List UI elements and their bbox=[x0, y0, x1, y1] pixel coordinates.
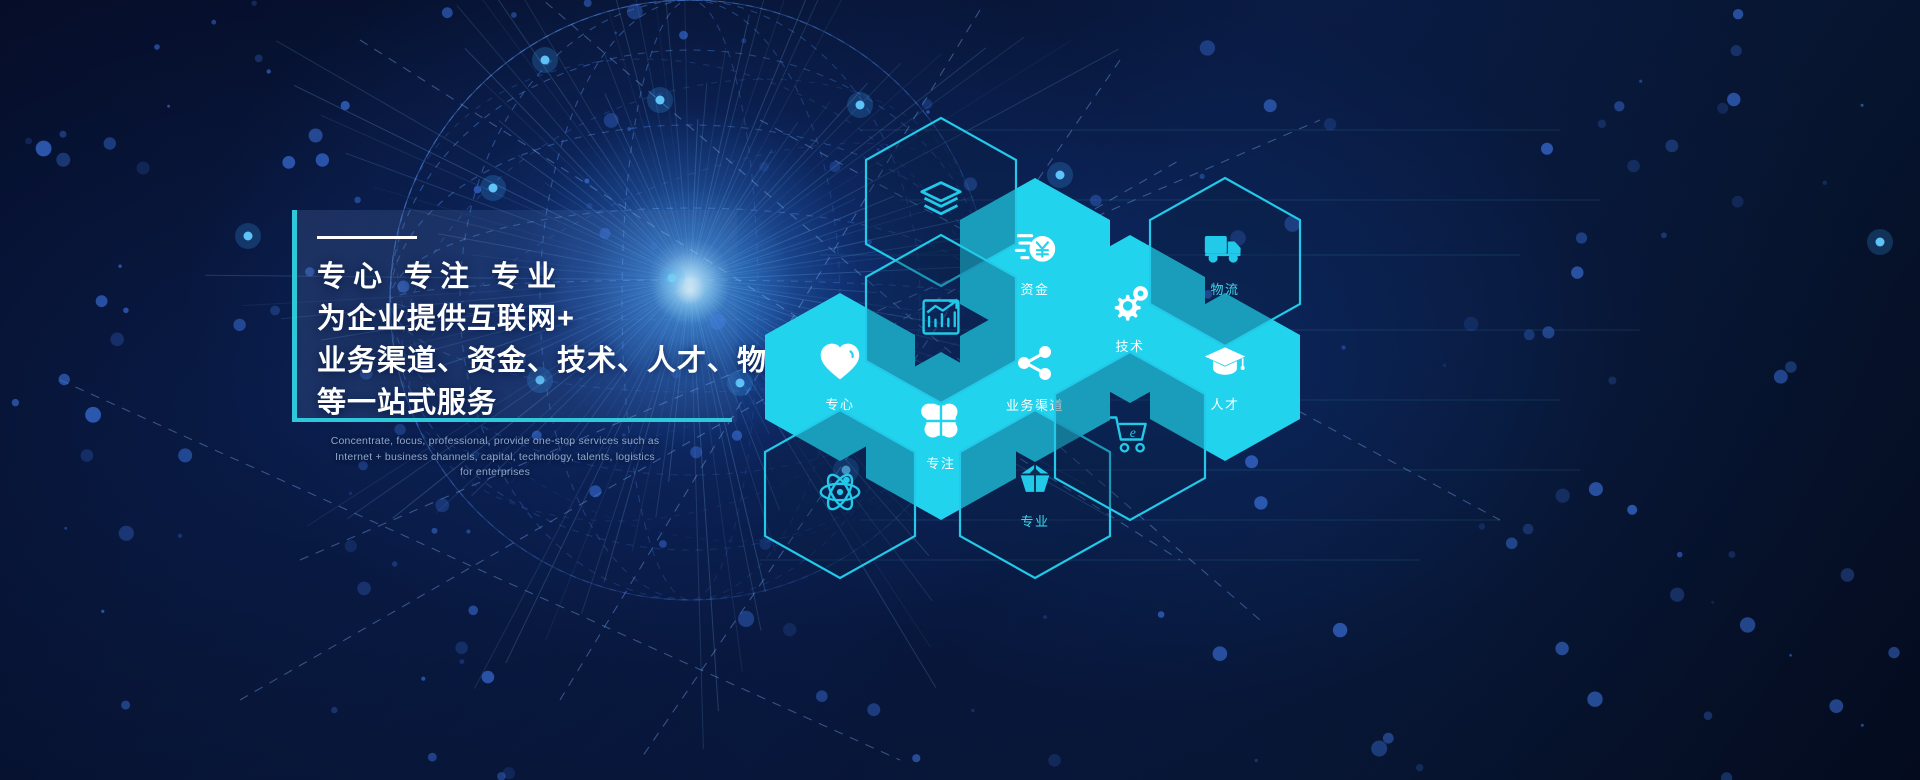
headline-panel: 专心 专注 专业 为企业提供互联网+ 业务渠道、资金、技术、人才、物流 等一站式… bbox=[292, 210, 737, 422]
hexagon-shape bbox=[1055, 352, 1205, 520]
headline-line-2: 为企业提供互联网+ bbox=[317, 298, 737, 340]
headline-line-3: 业务渠道、资金、技术、人才、物流 bbox=[317, 340, 737, 382]
hexagon-growth[interactable] bbox=[866, 235, 1016, 403]
page-title: 专心 专注 专业 为企业提供互联网+ 业务渠道、资金、技术、人才、物流 等一站式… bbox=[317, 256, 737, 424]
hexagon-wuliu[interactable]: 物流 bbox=[1150, 178, 1300, 346]
hexagon-shape bbox=[866, 235, 1016, 403]
hexagon-ecart[interactable]: e bbox=[1055, 352, 1205, 520]
headline-line-1: 专心 专注 专业 bbox=[317, 256, 737, 298]
headline-rule bbox=[317, 236, 417, 239]
hero-banner: 专心 专注 专业 为企业提供互联网+ 业务渠道、资金、技术、人才、物流 等一站式… bbox=[0, 0, 1920, 780]
hexagon-shape bbox=[765, 410, 915, 578]
hexagon-shape bbox=[1150, 178, 1300, 346]
panel-underline bbox=[292, 418, 732, 422]
hexagon-atom[interactable] bbox=[765, 410, 915, 578]
subtitle-text: Concentrate, focus, professional, provid… bbox=[330, 434, 660, 481]
